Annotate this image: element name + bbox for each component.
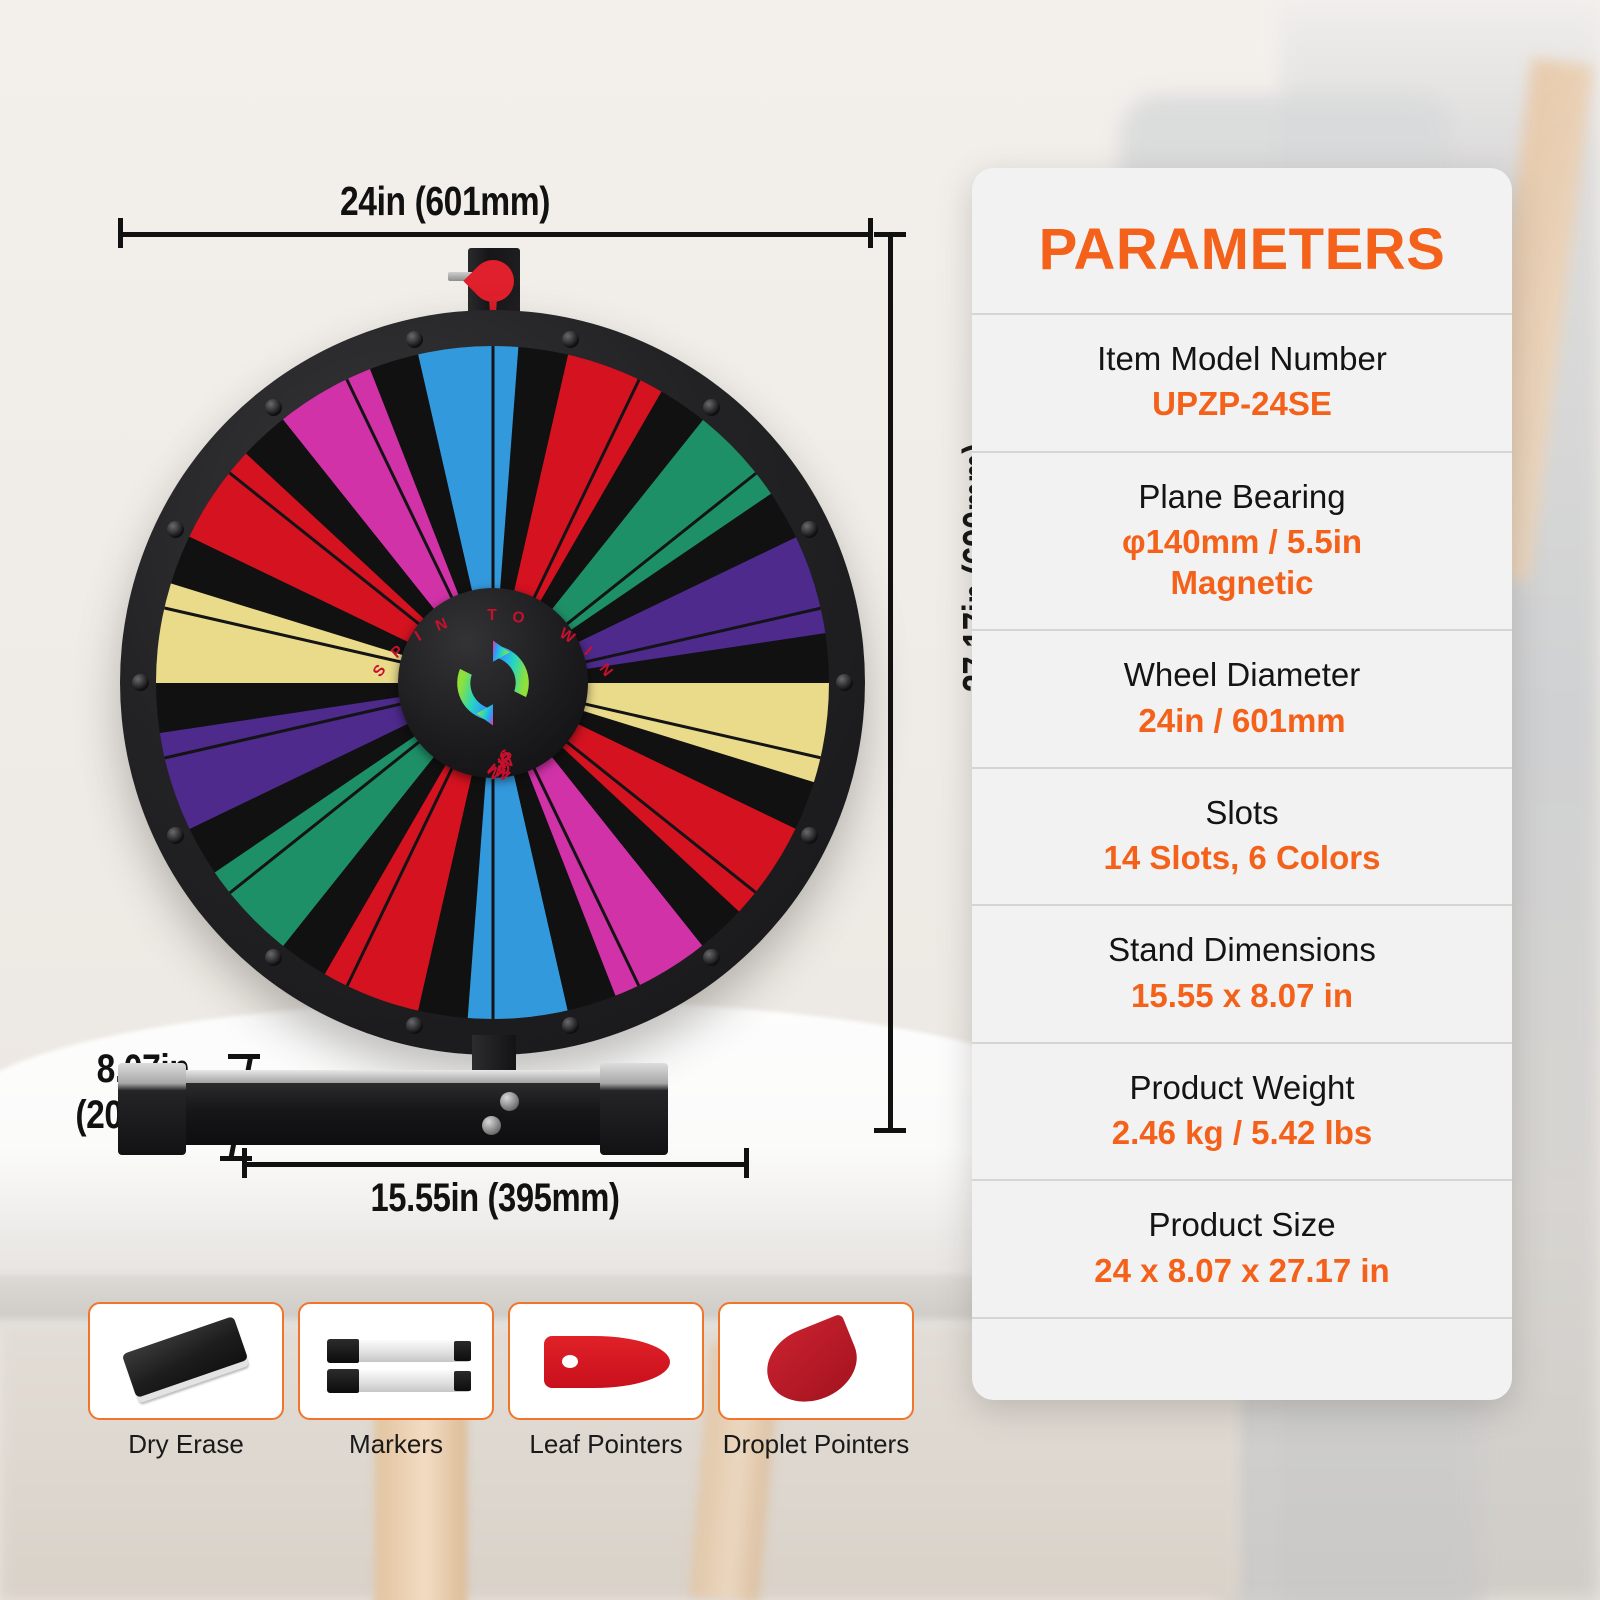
dimension-stand-line — [244, 1162, 748, 1167]
stand-body — [130, 1083, 630, 1145]
parameter-value: 24 x 8.07 x 27.17 in — [990, 1250, 1494, 1291]
wheel-stud — [801, 827, 818, 844]
parameter-label: Item Model Number — [990, 339, 1494, 379]
dimension-stand-cap-left — [242, 1148, 247, 1178]
dimension-stand-label: 15.55in (395mm) — [286, 1176, 704, 1221]
accessory-dry-erase[interactable]: Dry Erase — [88, 1302, 284, 1474]
product-infographic: 24in (601mm) 27.17in (690mm) 8.07in (205… — [0, 0, 1600, 1600]
accessory-card[interactable] — [718, 1302, 914, 1420]
stand-foot-left — [118, 1063, 186, 1155]
accessory-droplet-pointers[interactable]: Droplet Pointers — [718, 1302, 914, 1474]
dimension-height-cap-top — [874, 232, 906, 237]
wheel-stud — [406, 331, 423, 348]
wheel-stud — [167, 827, 184, 844]
parameter-value: 2.46 kg / 5.42 lbs — [990, 1112, 1494, 1153]
wheel-stud — [265, 399, 282, 416]
parameter-value: 14 Slots, 6 Colors — [990, 837, 1494, 878]
accessories-row: Dry Erase Markers Leaf Pointers Droplet … — [88, 1302, 928, 1474]
stand-screw-bottom — [482, 1116, 501, 1135]
wheel-stud — [167, 521, 184, 538]
parameter-row: Item Model NumberUPZP-24SE — [972, 313, 1512, 451]
parameter-value: 24in / 601mm — [990, 700, 1494, 741]
leaf-pointer-hole — [562, 1355, 578, 1368]
parameter-row: Product Size24 x 8.07 x 27.17 in — [972, 1179, 1512, 1317]
dimension-stand-cap-right — [744, 1148, 749, 1178]
wheel-stud — [132, 674, 149, 691]
marker-pens-icon — [328, 1340, 470, 1362]
parameter-label: Product Weight — [990, 1068, 1494, 1108]
accessory-label: Markers — [349, 1429, 443, 1460]
parameter-value: φ140mm / 5.5inMagnetic — [990, 521, 1494, 604]
parameter-row: Stand Dimensions15.55 x 8.07 in — [972, 904, 1512, 1042]
accessory-card[interactable] — [508, 1302, 704, 1420]
parameter-row: Slots14 Slots, 6 Colors — [972, 767, 1512, 905]
accessory-leaf-pointers[interactable]: Leaf Pointers — [508, 1302, 704, 1474]
stand-screw-top — [500, 1092, 519, 1111]
parameter-label: Slots — [990, 793, 1494, 833]
dimension-height-line — [888, 234, 893, 1132]
wheel-stud — [406, 1017, 423, 1034]
wheel-frame: SPIN TO WIN SPIN TO WIN — [120, 310, 865, 1055]
parameter-row: Wheel Diameter24in / 601mm — [972, 629, 1512, 767]
parameter-label: Plane Bearing — [990, 477, 1494, 517]
wheel-hub: SPIN TO WIN SPIN TO WIN — [398, 588, 588, 778]
parameter-value: 15.55 x 8.07 in — [990, 975, 1494, 1016]
wheel-stud — [562, 331, 579, 348]
dimension-width-label: 24in (601mm) — [80, 178, 810, 225]
wheel-stud — [836, 674, 853, 691]
stand-foot-right — [600, 1063, 668, 1155]
accessory-card[interactable] — [298, 1302, 494, 1420]
parameters-bottom-divider — [972, 1317, 1512, 1319]
parameters-title: PARAMETERS — [972, 168, 1512, 313]
stand-crossbar — [120, 1070, 642, 1084]
wheel-stud — [562, 1017, 579, 1034]
parameter-label: Product Size — [990, 1205, 1494, 1245]
parameter-value: UPZP-24SE — [990, 383, 1494, 424]
parameter-row: Product Weight2.46 kg / 5.42 lbs — [972, 1042, 1512, 1180]
accessory-label: Droplet Pointers — [723, 1429, 909, 1460]
accessory-card[interactable] — [88, 1302, 284, 1420]
parameter-label: Wheel Diameter — [990, 655, 1494, 695]
accessory-label: Dry Erase — [128, 1429, 244, 1460]
parameters-panel: PARAMETERS Item Model NumberUPZP-24SEPla… — [972, 168, 1512, 1400]
prize-wheel-assembly: SPIN TO WIN SPIN TO WIN — [120, 240, 880, 1140]
eraser-icon — [122, 1316, 249, 1398]
accessory-markers[interactable]: Markers — [298, 1302, 494, 1474]
leaf-pointer-icon — [544, 1336, 670, 1388]
accessory-label: Leaf Pointers — [529, 1429, 682, 1460]
droplet-pointer-icon — [756, 1313, 868, 1414]
parameter-label: Stand Dimensions — [990, 930, 1494, 970]
wheel-stud — [703, 949, 720, 966]
marker-pen-second-icon — [328, 1370, 470, 1392]
dimension-depth-cap-bottom — [220, 1156, 252, 1161]
parameters-rows: Item Model NumberUPZP-24SEPlane Bearingφ… — [972, 313, 1512, 1317]
parameter-row: Plane Bearingφ140mm / 5.5inMagnetic — [972, 451, 1512, 630]
spin-arrows-icon — [434, 624, 552, 742]
wheel-stud — [265, 949, 282, 966]
dimension-width-line — [120, 232, 872, 237]
